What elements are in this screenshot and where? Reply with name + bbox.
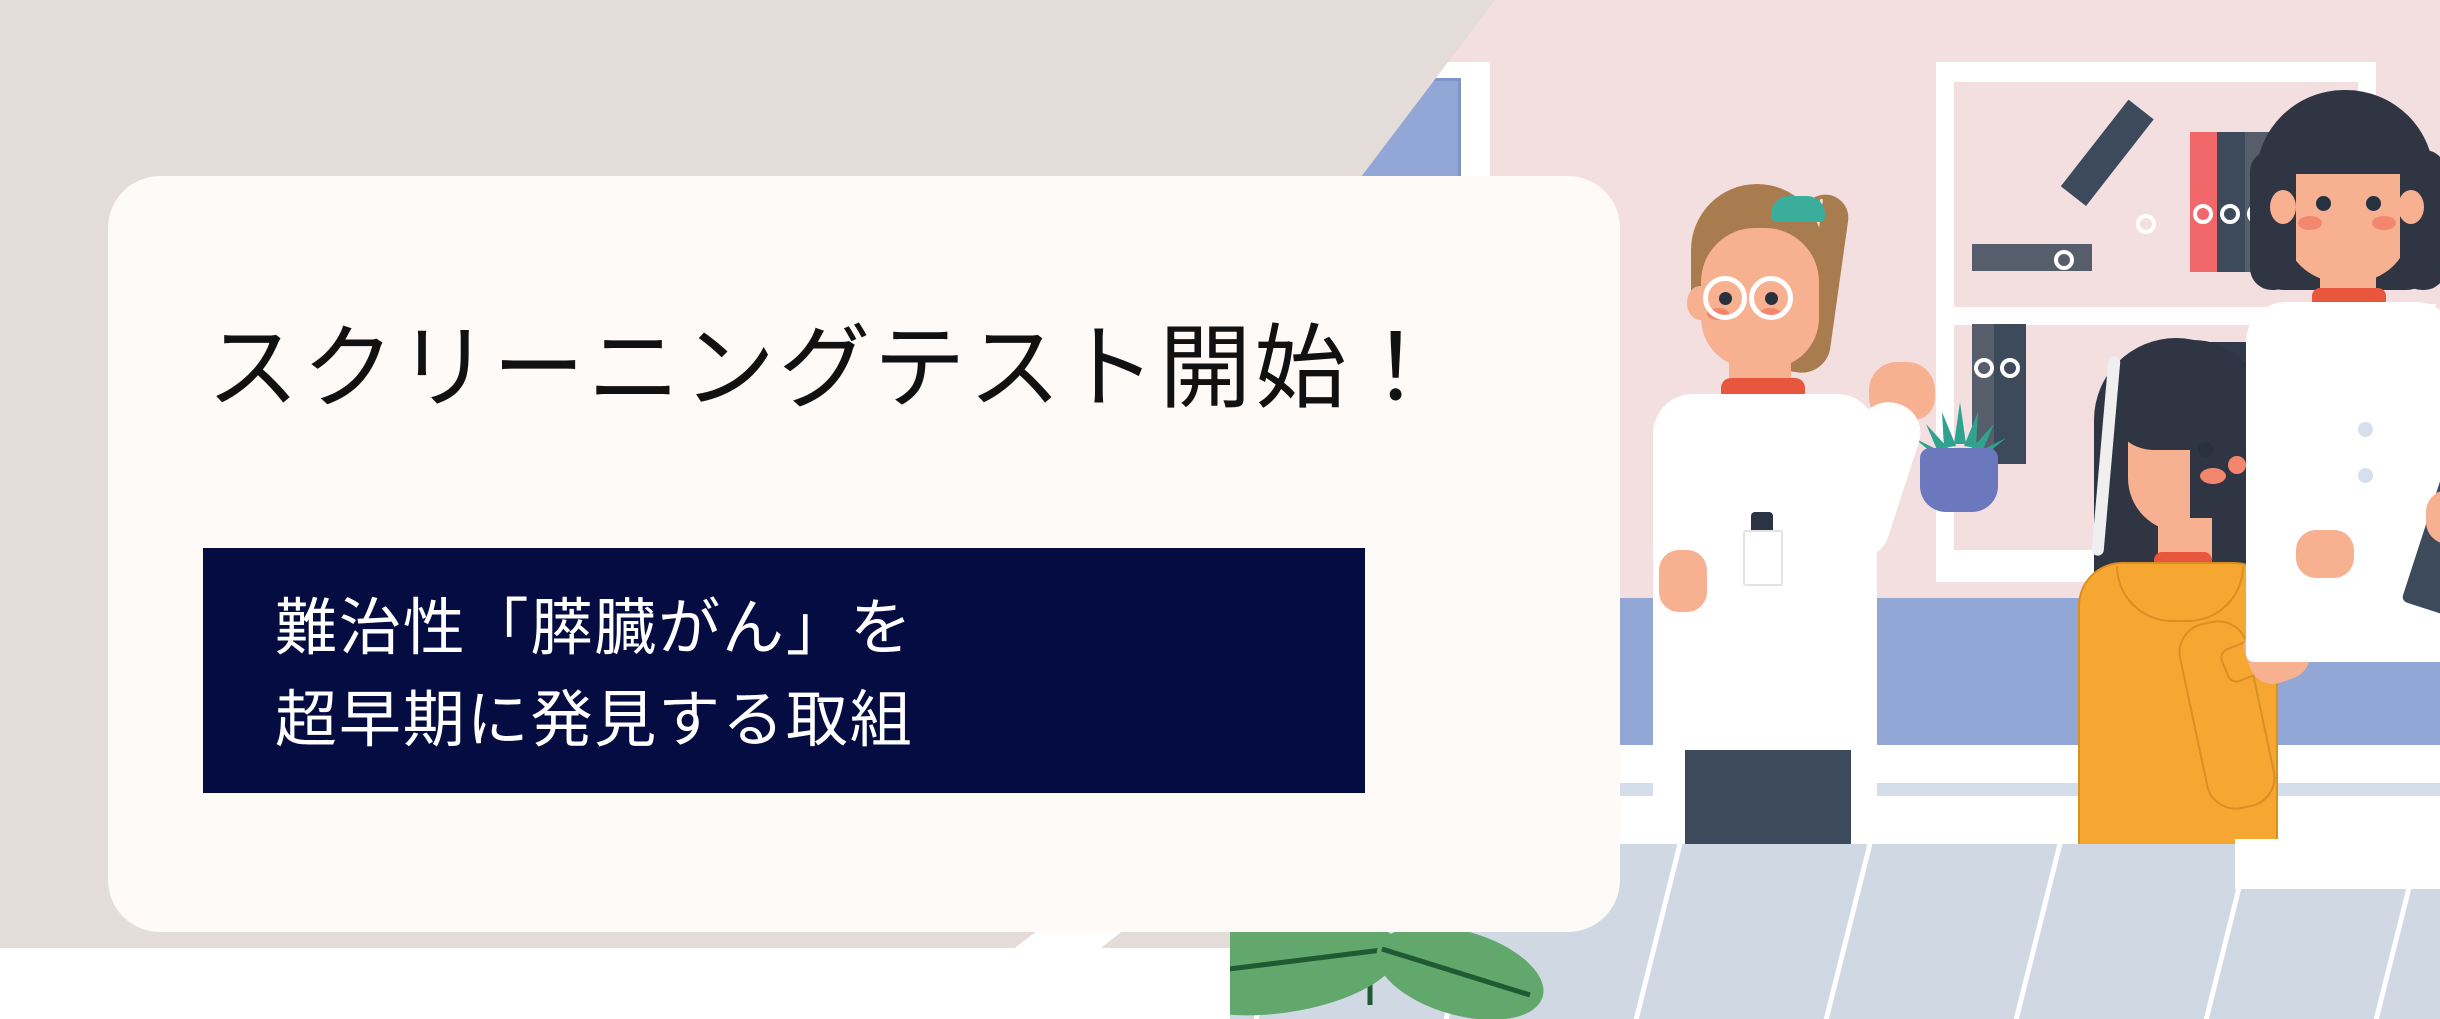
patient-cheek: [2200, 468, 2226, 484]
patient-eye: [2198, 442, 2213, 457]
doctor2-eye: [2366, 196, 2381, 211]
binder-ring: [2193, 204, 2213, 224]
doctor2-ear: [2270, 190, 2296, 224]
banner-stage: スクリーニングテスト開始！ 難治性「膵臓がん」を 超早期に発見する取組: [0, 0, 2440, 1019]
doctor2-cheek: [2372, 216, 2396, 230]
binder-ring: [2054, 250, 2074, 270]
binder-ring: [2220, 204, 2240, 224]
doctor2-ear: [2398, 190, 2424, 224]
doctor-eye: [1765, 292, 1778, 305]
doctor-left-hand: [1659, 550, 1707, 612]
binder-red: [2190, 132, 2217, 272]
doctor2-eye: [2316, 196, 2331, 211]
subtitle-line-2: 超早期に発見する取組: [275, 676, 1335, 768]
subtitle-line-1: 難治性「膵臓がん」を: [275, 584, 1335, 676]
floor-line: [1994, 844, 2071, 1019]
doctor2-hand-on-hip: [2296, 530, 2354, 578]
binder-ring: [2136, 214, 2156, 234]
doctor-skirt: [1685, 750, 1851, 850]
floor-line: [1804, 844, 1881, 1019]
page-title: スクリーニングテスト開始！: [207, 312, 1457, 427]
subtitle-banner-text: 難治性「膵臓がん」を 超早期に発見する取組: [275, 584, 1335, 768]
doctor-eye: [1719, 292, 1732, 305]
doctor-with-clipboard: [2240, 90, 2440, 650]
binder-flat: [1972, 244, 2092, 271]
subtitle-banner: 難治性「膵臓がん」を 超早期に発見する取組: [203, 548, 1365, 793]
doctor2-cheek: [2298, 216, 2322, 230]
doctor-hair-tie: [1771, 196, 1825, 222]
doctor2-coat-button: [2358, 468, 2373, 483]
floor-step: [2235, 839, 2440, 889]
doctor2-bangs: [2280, 116, 2414, 174]
doctor-id-badge: [1743, 530, 1783, 586]
binder-ring: [1974, 358, 1994, 378]
doctor2-coat-button: [2358, 422, 2373, 437]
binder-ring: [2000, 358, 2020, 378]
beige-panel-bottom-fill: [0, 948, 760, 1019]
patient-hair-front: [2110, 340, 2260, 450]
